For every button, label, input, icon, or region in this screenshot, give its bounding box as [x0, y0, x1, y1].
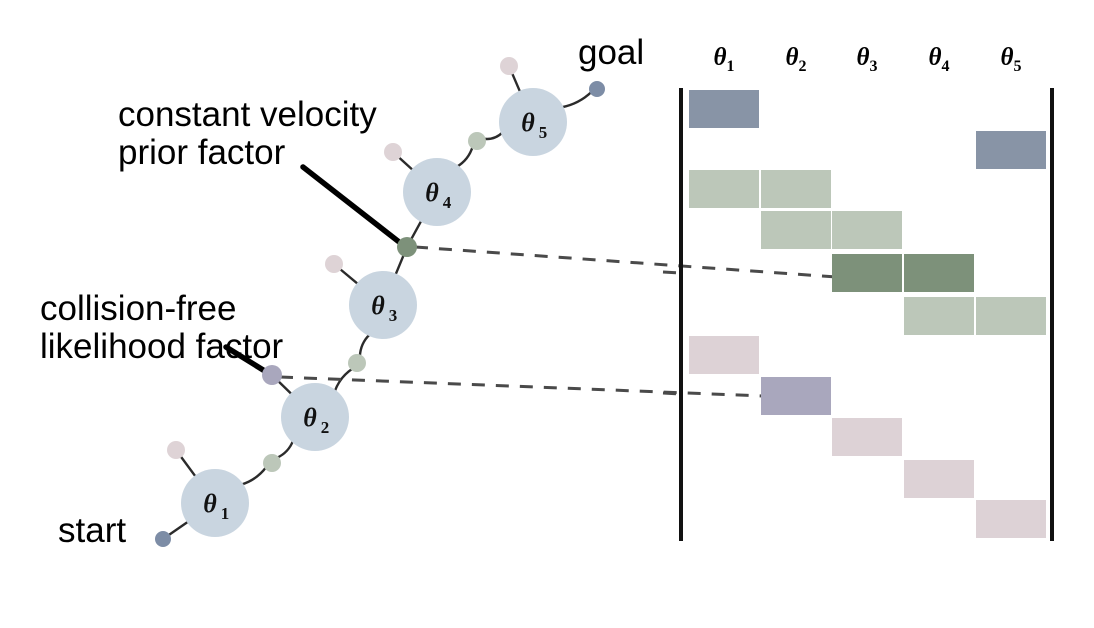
theta-subscript: 2 — [798, 58, 806, 75]
node-theta-5-label: θ — [521, 108, 535, 137]
col-theta-3-header: θ3 — [832, 44, 902, 76]
graph-edge — [241, 467, 266, 485]
theta-subscript: 1 — [726, 58, 734, 75]
cell-gp-3-4[interactable] — [904, 254, 974, 292]
dashed-stub-velocity — [663, 272, 680, 273]
figure-canvas: θ1θ2θ3θ4θ5 constant velocity prior facto… — [0, 0, 1094, 628]
graph-edge — [180, 456, 196, 478]
graph-edge — [360, 334, 370, 356]
node-theta-5-subscript: 5 — [539, 123, 548, 142]
annotation-constant-velocity-prior-factor: constant velocity prior factor — [118, 96, 377, 172]
cell-gp-1-1[interactable] — [689, 170, 759, 208]
cell-gp-3-3[interactable] — [832, 254, 902, 292]
cell-start-prior[interactable] — [689, 90, 759, 128]
theta-glyph: θ — [786, 44, 799, 71]
node-theta-4[interactable]: θ4 — [403, 158, 471, 226]
node-theta-2-label: θ — [303, 403, 317, 432]
cell-obs-1[interactable] — [689, 336, 759, 374]
node-theta-1[interactable]: θ1 — [181, 469, 249, 537]
factor-prior-4[interactable] — [500, 57, 518, 75]
annotation-line-2: prior factor — [118, 134, 377, 172]
graph-edge — [398, 157, 413, 171]
factor-velocity-1[interactable] — [263, 454, 281, 472]
cell-gp-4-5[interactable] — [976, 297, 1046, 335]
annotation-collision-free-likelihood-factor: collision-free likelihood factor — [40, 290, 283, 366]
theta-glyph: θ — [714, 44, 727, 71]
graph-edge — [277, 440, 293, 458]
factor-collision-highlight[interactable] — [262, 365, 282, 385]
cell-gp-2-3[interactable] — [832, 211, 902, 249]
col-theta-2-header: θ2 — [761, 44, 831, 76]
col-theta-1-header: θ1 — [689, 44, 759, 76]
graph-edge — [457, 147, 473, 167]
cell-obs-5[interactable] — [976, 500, 1046, 538]
factor-prior-2[interactable] — [325, 255, 343, 273]
node-theta-2[interactable]: θ2 — [281, 383, 349, 451]
col-theta-4-header: θ4 — [904, 44, 974, 76]
annotation-line-1: constant velocity — [118, 96, 377, 134]
start-label: start — [58, 512, 126, 550]
dashed-link-collision — [280, 377, 764, 396]
cell-gp-1-2[interactable] — [761, 170, 831, 208]
factor-velocity-3[interactable] — [468, 132, 486, 150]
matrix-left-bracket — [679, 88, 683, 541]
node-theta-3[interactable]: θ3 — [349, 271, 417, 339]
node-theta-5[interactable]: θ5 — [499, 88, 567, 156]
goal-label: goal — [578, 34, 644, 72]
node-theta-2-subscript: 2 — [321, 418, 330, 437]
graph-edge — [395, 254, 404, 275]
node-theta-4-subscript: 4 — [443, 193, 452, 212]
node-theta-1-label: θ — [203, 489, 217, 518]
annotation-line-2: likelihood factor — [40, 328, 283, 366]
theta-glyph: θ — [1001, 44, 1014, 71]
dashed-stub-collision — [663, 393, 680, 394]
theta-subscript: 5 — [1013, 58, 1021, 75]
cell-obs-2[interactable] — [761, 377, 831, 415]
node-theta-3-subscript: 3 — [389, 306, 398, 325]
cell-obs-4[interactable] — [904, 460, 974, 498]
graph-edge — [512, 72, 521, 92]
graph-edge — [168, 521, 189, 535]
graph-edge — [339, 268, 358, 284]
leader-constant-velocity — [303, 167, 403, 245]
graph-edge — [561, 92, 591, 108]
factor-prior-3[interactable] — [384, 143, 402, 161]
graph-edge — [278, 381, 292, 395]
node-theta-3-label: θ — [371, 291, 385, 320]
theta-subscript: 3 — [869, 58, 877, 75]
theta-glyph: θ — [857, 44, 870, 71]
cell-goal-prior[interactable] — [976, 131, 1046, 169]
annotation-line-1: collision-free — [40, 290, 283, 328]
graph-edge — [411, 220, 422, 240]
goal-dot[interactable] — [589, 81, 605, 97]
cell-gp-2-2[interactable] — [761, 211, 831, 249]
factor-prior-1[interactable] — [167, 441, 185, 459]
graph-edge — [484, 132, 503, 139]
matrix-right-bracket — [1050, 88, 1054, 541]
node-theta-4-label: θ — [425, 178, 439, 207]
theta-subscript: 4 — [941, 58, 949, 75]
cell-obs-3[interactable] — [832, 418, 902, 456]
start-dot[interactable] — [155, 531, 171, 547]
col-theta-5-header: θ5 — [976, 44, 1046, 76]
node-theta-1-subscript: 1 — [221, 504, 230, 523]
theta-glyph: θ — [929, 44, 942, 71]
dashed-link-velocity — [415, 247, 836, 277]
factor-velocity-highlight[interactable] — [397, 237, 417, 257]
factor-velocity-2[interactable] — [348, 354, 366, 372]
cell-gp-4-4[interactable] — [904, 297, 974, 335]
